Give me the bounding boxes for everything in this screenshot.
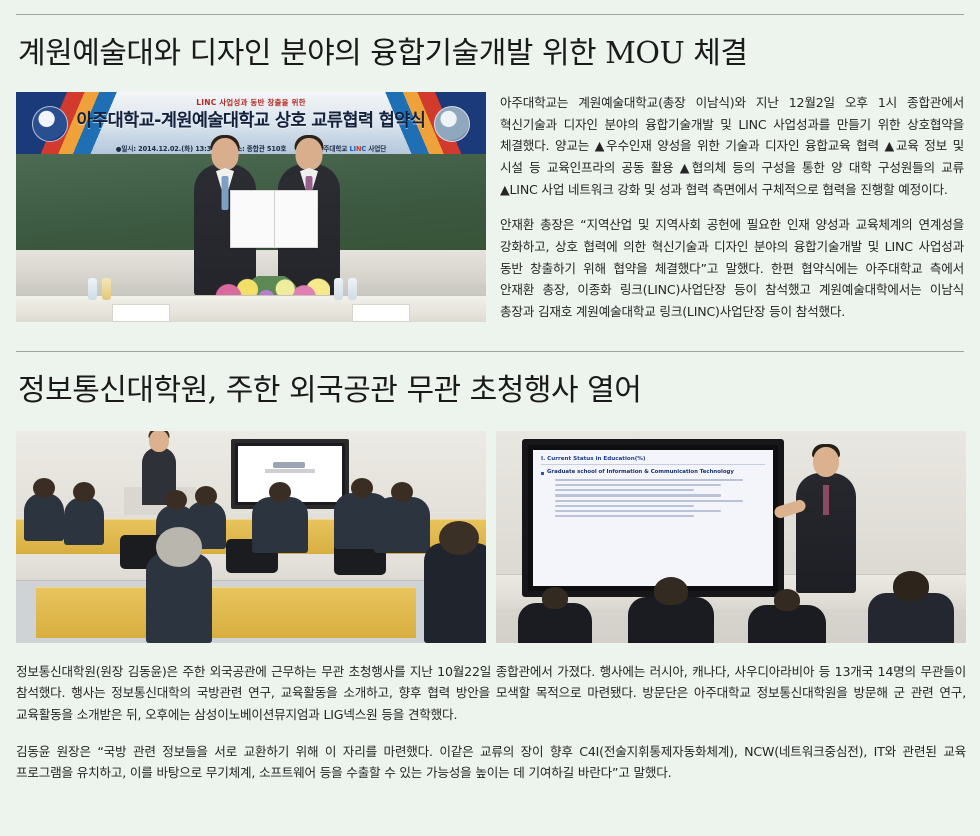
head bbox=[149, 431, 169, 452]
slide-line bbox=[555, 500, 743, 502]
head bbox=[165, 490, 187, 510]
banner-main-line: 아주대학교-계원예술대학교 상호 교류협력 협약식 bbox=[16, 107, 486, 132]
foreground-attendee bbox=[146, 553, 212, 643]
presentation-speaker-photo: I. Current Status in Education(%) Gradua… bbox=[496, 431, 966, 643]
audience-member bbox=[518, 603, 592, 643]
head bbox=[813, 447, 839, 477]
name-placard bbox=[352, 304, 410, 322]
head bbox=[439, 521, 479, 555]
presentation-display: I. Current Status in Education(%) Gradua… bbox=[522, 439, 784, 597]
banner-date: ●일시: 2014.12.02.(화) 13:30 bbox=[116, 145, 216, 153]
newsletter-page: 계원예술대와 디자인 분야의 융합기술개발 위한 MOU 체결 LINC 사업성… bbox=[0, 14, 980, 836]
attendee bbox=[24, 493, 64, 541]
slide-bullet: Graduate school of Information & Communi… bbox=[541, 469, 765, 476]
article-2-headline: 정보통신대학원, 주한 외국공관 무관 초청행사 열어 bbox=[0, 352, 980, 409]
article-2-paragraph-1: 정보통신대학원(원장 김동윤)은 주한 외국공관에 근무하는 무관 초청행사를 … bbox=[16, 661, 966, 726]
head bbox=[156, 527, 202, 567]
name-placard bbox=[112, 304, 170, 322]
head bbox=[774, 589, 800, 611]
article-1-paragraph-1: 아주대학교는 계원예술대학교(총장 이남식)와 지난 12월2일 오후 1시 종… bbox=[500, 92, 964, 200]
mou-banner: LINC 사업성과 동반 창출을 위한 아주대학교-계원예술대학교 상호 교류협… bbox=[16, 92, 486, 158]
mou-document bbox=[230, 190, 318, 248]
slide-line bbox=[555, 510, 721, 512]
audience-member bbox=[868, 593, 954, 643]
article-1-headline: 계원예술대와 디자인 분야의 융합기술개발 위한 MOU 체결 bbox=[0, 15, 980, 72]
slide-line bbox=[555, 515, 694, 517]
water-bottle bbox=[334, 278, 343, 300]
head-table bbox=[16, 295, 486, 322]
slide-line bbox=[555, 489, 694, 491]
head bbox=[542, 587, 568, 609]
presenting-speaker bbox=[796, 473, 856, 593]
head bbox=[893, 571, 929, 601]
slide-line bbox=[555, 505, 694, 507]
article-1-body: LINC 사업성과 동반 창출을 위한 아주대학교-계원예술대학교 상호 교류협… bbox=[0, 72, 980, 323]
necktie bbox=[823, 485, 829, 515]
head bbox=[351, 478, 373, 498]
mou-signing-photo: LINC 사업성과 동반 창출을 위한 아주대학교-계원예술대학교 상호 교류협… bbox=[16, 92, 486, 322]
banner-sub-line: ●일시: 2014.12.02.(화) 13:30 ●장소: 종합관 510호 … bbox=[16, 143, 486, 153]
attendee bbox=[252, 497, 308, 553]
foreground-attendee bbox=[424, 543, 486, 643]
attendee bbox=[374, 497, 430, 553]
slide-content: I. Current Status in Education(%) Gradua… bbox=[533, 450, 773, 586]
article-2-paragraph-2: 김동윤 원장은 “국방 관련 정보들을 서로 교환하기 위해 이 자리를 마련했… bbox=[16, 741, 966, 784]
slide-line bbox=[555, 494, 721, 496]
article-2-text: 정보통신대학원(원장 김동윤)은 주한 외국공관에 근무하는 무관 초청행사를 … bbox=[0, 643, 980, 784]
article-1-text: 아주대학교는 계원예술대학교(총장 이남식)와 지난 12월2일 오후 1시 종… bbox=[500, 92, 964, 323]
head bbox=[654, 577, 688, 605]
slide-line bbox=[555, 479, 743, 481]
juice-bottle bbox=[102, 278, 111, 300]
slide-title: I. Current Status in Education(%) bbox=[541, 456, 765, 465]
head bbox=[73, 482, 95, 502]
banner-host-suffix: 사업단 bbox=[366, 145, 386, 153]
slide-line bbox=[555, 484, 721, 486]
article-2-photo-row: I. Current Status in Education(%) Gradua… bbox=[0, 409, 980, 643]
audience-member bbox=[748, 605, 826, 643]
head bbox=[33, 478, 55, 498]
head bbox=[296, 138, 323, 170]
head bbox=[269, 482, 291, 502]
attendee bbox=[64, 497, 104, 545]
water-bottle bbox=[348, 278, 357, 300]
audience-member bbox=[628, 597, 714, 643]
article-1-paragraph-2: 안재환 총장은 “지역산업 및 지역사회 공헌에 필요한 인재 양성과 교육체계… bbox=[500, 214, 964, 322]
water-bottle bbox=[88, 278, 97, 300]
seminar-room-audience-photo bbox=[16, 431, 486, 643]
banner-host-linc: LINC bbox=[349, 145, 366, 153]
head bbox=[195, 486, 217, 506]
necktie bbox=[222, 176, 229, 210]
head bbox=[391, 482, 413, 502]
front-desk bbox=[36, 587, 416, 638]
head bbox=[212, 138, 239, 170]
